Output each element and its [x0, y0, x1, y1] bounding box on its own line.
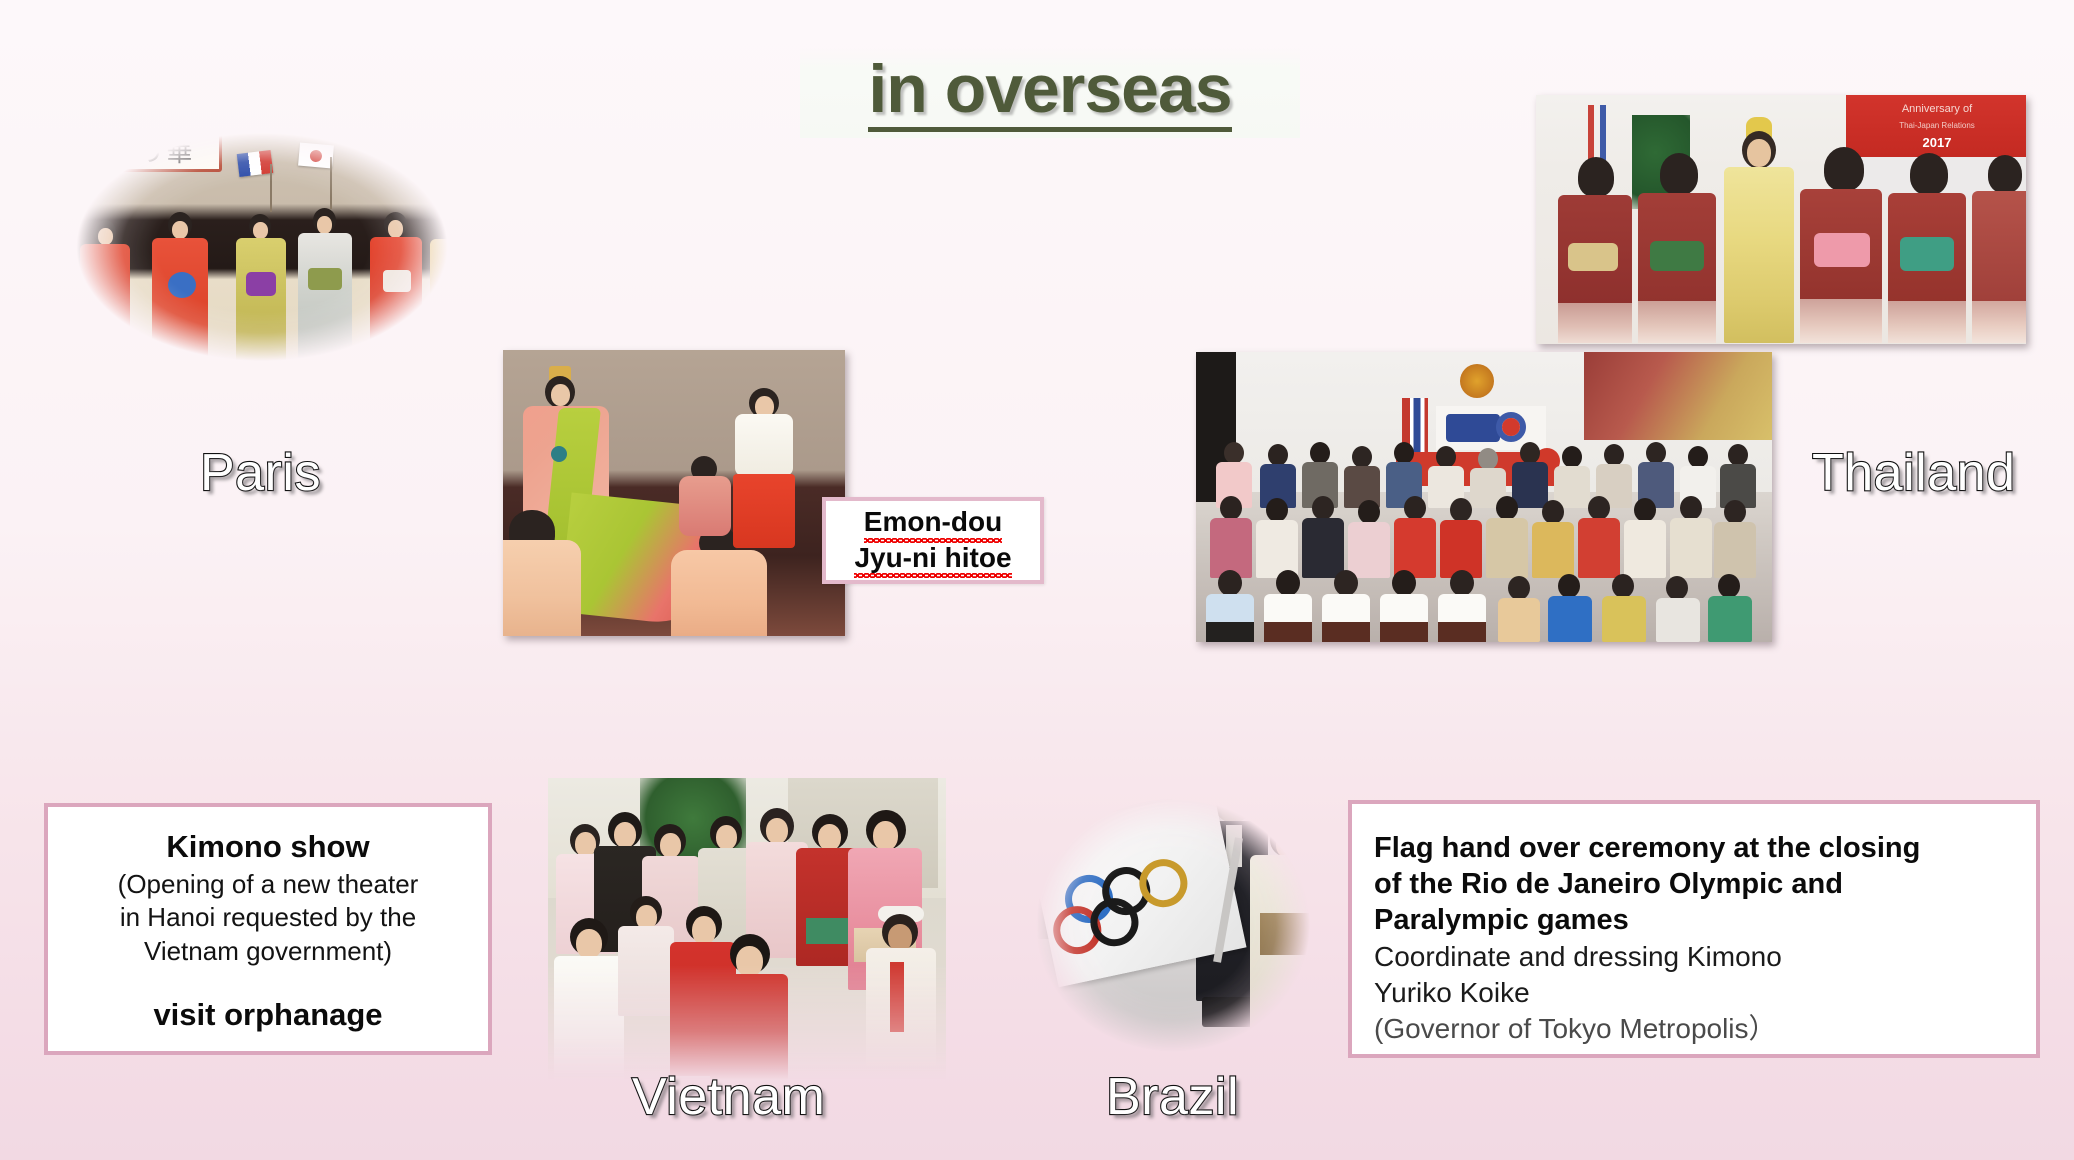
photo-emon-dou-scene	[503, 350, 845, 636]
kimono-show-heading: Kimono show	[66, 829, 470, 866]
performer	[370, 212, 422, 372]
kimono-figure	[1558, 157, 1632, 343]
photo-group-ceremony	[1196, 352, 1772, 642]
rio-heading-line-2: of the Rio de Janeiro Olympic and	[1374, 867, 2016, 903]
kimono-figure	[1638, 153, 1716, 343]
photo-vietnam	[548, 778, 946, 1080]
flag-france-icon	[237, 150, 274, 177]
label-vietnam: Vietnam	[632, 1067, 825, 1127]
label-paris: Paris	[200, 443, 321, 503]
people-row-front	[1202, 566, 1766, 642]
kimono-figure	[1972, 155, 2026, 343]
performer	[430, 216, 472, 372]
noble-face	[551, 384, 570, 406]
photo-emon-dou	[503, 350, 845, 636]
performer	[80, 220, 130, 370]
flag-japan-icon	[298, 143, 334, 169]
page-title-text: in overseas	[868, 54, 1231, 132]
kimono-figure	[1888, 153, 1966, 343]
rio-heading-line-1: Flag hand over ceremony at the closing	[1374, 831, 2016, 867]
performer	[298, 208, 352, 372]
textbox-kimono-show: Kimono show (Opening of a new theater in…	[44, 803, 492, 1055]
child	[866, 906, 936, 1066]
rio-heading-line-3: Paralympic games	[1374, 903, 2016, 939]
photo-brazil-scene	[1018, 775, 1328, 1075]
logo-dot	[1502, 418, 1520, 436]
photo-paris: 帯の華	[52, 112, 472, 382]
robe-clasp	[551, 446, 567, 462]
kimono-figure	[1800, 147, 1882, 343]
kimono-show-sub-line-2: in Hanoi requested by the	[66, 902, 470, 933]
photo-vietnam-scene	[548, 778, 946, 1080]
label-brazil: Brazil	[1106, 1067, 1239, 1127]
callout-line-1: Emon-dou	[864, 505, 1002, 540]
kimono-show-sub-line-1: (Opening of a new theater	[66, 869, 470, 900]
rio-line-3: (Governor of Tokyo Metropolis）	[1374, 1011, 2016, 1047]
photo-paris-scene: 帯の華	[52, 112, 472, 382]
paris-stage-banner: 帯の華	[80, 128, 222, 172]
rio-line-2: Yuriko Koike	[1374, 975, 2016, 1011]
miko-hakama	[733, 474, 795, 548]
flag-pole	[270, 164, 272, 212]
kimono-show-sub-line-3: Vietnam government)	[66, 936, 470, 967]
attendant-robe	[679, 476, 731, 536]
woman-in-kimono	[1250, 823, 1324, 1039]
child	[710, 934, 788, 1080]
label-thailand: Thailand	[1812, 443, 2015, 503]
photo-brazil	[1018, 775, 1328, 1075]
attendant-robe	[671, 550, 767, 636]
child	[554, 918, 624, 1080]
page-title: in overseas	[800, 48, 1300, 138]
performer	[236, 214, 286, 372]
gold-dress-figure	[1724, 117, 1794, 343]
emblem	[1460, 364, 1494, 398]
photo-group-scene	[1196, 352, 1772, 642]
hanging-kimono	[1584, 352, 1772, 440]
visit-orphanage-heading: visit orphanage	[66, 997, 470, 1033]
callout-emon-dou: Emon-dou Jyu-ni hitoe	[822, 497, 1044, 584]
attendant-robe	[503, 540, 581, 636]
photo-thailand-scene: Anniversary of Thai-Japan Relations 2017	[1536, 95, 2026, 344]
callout-line-2: Jyu-ni hitoe	[854, 541, 1011, 576]
rio-line-1: Coordinate and dressing Kimono	[1374, 939, 2016, 975]
miko-top	[735, 414, 793, 476]
textbox-rio-ceremony: Flag hand over ceremony at the closing o…	[1348, 800, 2040, 1058]
photo-thailand: Anniversary of Thai-Japan Relations 2017	[1536, 95, 2026, 344]
performer	[152, 212, 208, 372]
flag-pole	[330, 157, 332, 209]
child	[618, 896, 674, 1016]
